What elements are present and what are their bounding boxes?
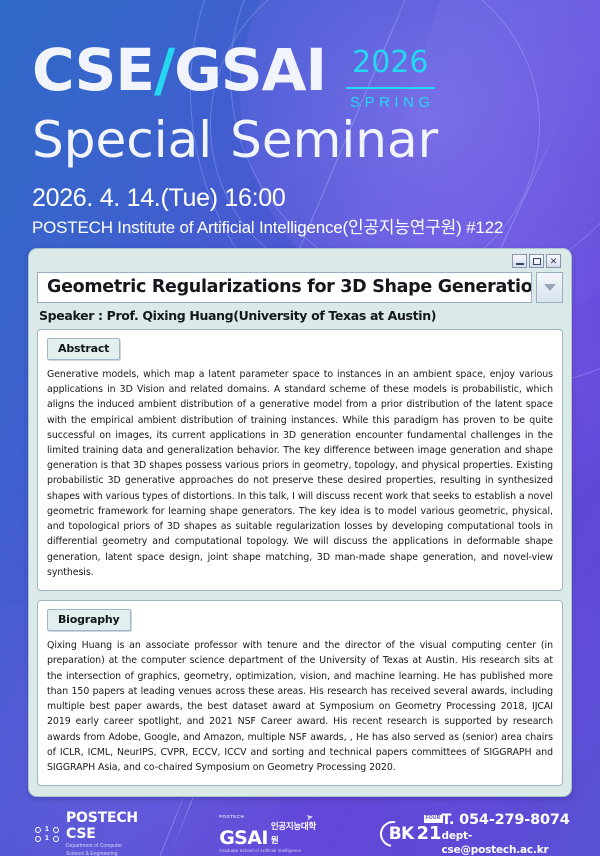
emblem-digit-1: 1 bbox=[43, 826, 51, 834]
postech-text-block: POSTECH CSE Department of Computer Scien… bbox=[66, 811, 167, 856]
gsai-korean-name: 인공지능대학원 bbox=[271, 820, 320, 847]
abstract-tag: Abstract bbox=[47, 338, 120, 360]
event-meta: 2026. 4. 14.(Tue) 16:00 POSTECH Institut… bbox=[0, 167, 600, 239]
postech-sub-1: Department of Computer bbox=[66, 843, 167, 850]
biography-tag: Biography bbox=[47, 609, 131, 631]
event-datetime: 2026. 4. 14.(Tue) 16:00 bbox=[32, 183, 600, 214]
abstract-text: Generative models, which map a latent pa… bbox=[47, 367, 553, 580]
window-titlebar: ✕ bbox=[37, 253, 563, 270]
emblem-ring-1 bbox=[34, 826, 42, 834]
speaker-line: Speaker : Prof. Qixing Huang(University … bbox=[39, 308, 563, 323]
title-row: Geometric Regularizations for 3D Shape G… bbox=[37, 272, 563, 303]
year-divider bbox=[346, 87, 435, 89]
minimize-icon bbox=[516, 263, 524, 265]
postech-cse-logo: 1 1 POSTECH CSE Department of Computer S… bbox=[34, 811, 167, 856]
year-block: 2026 SPRING bbox=[346, 48, 435, 110]
brand-prefix: CSE bbox=[32, 36, 154, 104]
bird-icon: ➤ bbox=[305, 811, 315, 823]
gsai-name: GSAI bbox=[219, 829, 268, 847]
poster-subtitle: SpecialSeminar bbox=[32, 114, 600, 167]
poster-footer: 1 1 POSTECH CSE Department of Computer S… bbox=[0, 807, 600, 856]
maximize-icon bbox=[533, 258, 541, 265]
emblem-ring-2 bbox=[52, 826, 60, 834]
contact-block: T. 054-279-8074 dept-cse@postech.ac.kr bbox=[442, 811, 587, 856]
title-dropdown-button[interactable] bbox=[536, 272, 563, 303]
minimize-button[interactable] bbox=[512, 254, 527, 268]
brand-title: CSE/GSAI bbox=[32, 42, 326, 99]
bk-four-badge: FOUR bbox=[424, 815, 443, 823]
event-location: POSTECH Institute of Artificial Intellig… bbox=[32, 217, 600, 239]
subtitle-word-2: Seminar bbox=[230, 111, 438, 169]
postech-sub-2: Science & Engineering bbox=[66, 851, 167, 856]
year-label: 2026 bbox=[346, 48, 435, 78]
close-button[interactable]: ✕ bbox=[546, 254, 561, 268]
seminar-poster: CSE/GSAI 2026 SPRING SpecialSeminar 2026… bbox=[0, 0, 600, 856]
gsai-subtitle: Graduate School of Artificial Intelligen… bbox=[219, 849, 320, 853]
postech-emblem-icon: 1 1 bbox=[34, 826, 60, 843]
emblem-digit-2: 1 bbox=[43, 835, 51, 843]
emblem-ring-4 bbox=[52, 835, 60, 843]
maximize-button[interactable] bbox=[529, 254, 544, 268]
contact-phone: T. 054-279-8074 bbox=[442, 811, 575, 829]
seminar-title[interactable]: Geometric Regularizations for 3D Shape G… bbox=[37, 272, 532, 303]
gsai-main-row: GSAI 인공지능대학원 bbox=[219, 820, 320, 847]
bk-number: 21 bbox=[416, 825, 441, 843]
brand-slash: / bbox=[154, 36, 174, 104]
abstract-section: Abstract Generative models, which map a … bbox=[37, 329, 563, 591]
subtitle-word-1: Special bbox=[32, 111, 212, 169]
bk-text-block: BK 21 FOUR bbox=[389, 825, 442, 843]
poster-header: CSE/GSAI 2026 SPRING SpecialSeminar bbox=[0, 0, 600, 167]
chevron-down-icon bbox=[544, 284, 556, 291]
contact-email[interactable]: dept-cse@postech.ac.kr bbox=[442, 830, 575, 856]
content-window: ✕ Geometric Regularizations for 3D Shape… bbox=[28, 248, 572, 797]
biography-section: Biography Qixing Huang is an associate p… bbox=[37, 600, 563, 786]
bk21-logo: BK 21 FOUR bbox=[380, 821, 442, 847]
biography-text: Qixing Huang is an associate professor w… bbox=[47, 638, 553, 775]
emblem-ring-3 bbox=[34, 835, 42, 843]
postech-name: POSTECH CSE bbox=[66, 811, 167, 842]
gsai-logo: ➤ POSTECH GSAI 인공지능대학원 Graduate School o… bbox=[219, 815, 320, 854]
brand-row: CSE/GSAI 2026 SPRING bbox=[32, 42, 600, 110]
season-label: SPRING bbox=[346, 95, 435, 110]
bk-label: BK bbox=[389, 826, 414, 843]
brand-suffix: GSAI bbox=[174, 36, 326, 104]
